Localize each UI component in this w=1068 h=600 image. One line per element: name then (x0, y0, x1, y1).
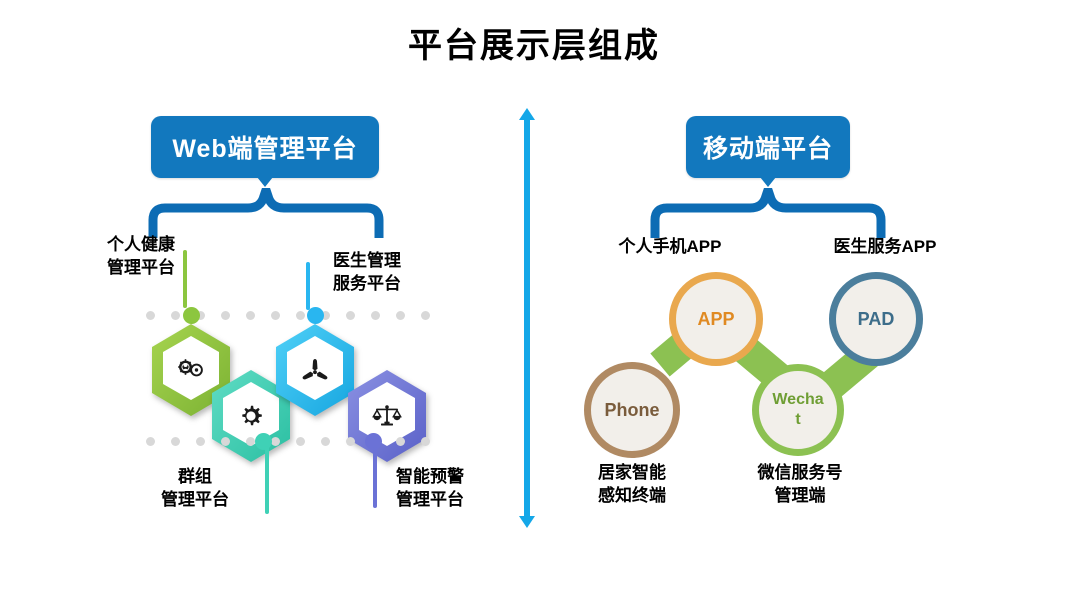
left-bracket (148, 188, 384, 238)
rail-dot (196, 437, 205, 446)
label-doctor-service-app: 医生服务APP (800, 236, 970, 259)
circle-phone-label: Phone (604, 400, 659, 421)
circle-phone[interactable]: Phone (584, 362, 680, 458)
rail-dot (421, 311, 430, 320)
circle-wechat[interactable]: Wecha t (752, 364, 844, 456)
web-platform-header-box[interactable]: Web端管理平台 (151, 116, 379, 178)
header-box-nub (257, 177, 273, 187)
rail-dot (271, 311, 280, 320)
stem-doctor-management (306, 262, 310, 310)
rail-dot (396, 437, 405, 446)
rail-dot (371, 311, 380, 320)
rail-dot (221, 311, 230, 320)
label-wechat-service-admin: 微信服务号 管理端 (725, 462, 875, 508)
label-personal-health: 个人健康 管理平台 (60, 234, 175, 280)
circle-pad[interactable]: PAD (829, 272, 923, 366)
vertical-double-arrow-divider (515, 108, 539, 528)
rail-dot-active (255, 433, 272, 450)
rail-dot (146, 311, 155, 320)
rail-dot (396, 311, 405, 320)
rail-dot (246, 311, 255, 320)
rail-dot (246, 437, 255, 446)
right-bracket (650, 188, 886, 238)
stem-smart-alert (373, 446, 377, 508)
rail-dot (146, 437, 155, 446)
header-box-nub (760, 177, 776, 187)
rail-dot (296, 311, 305, 320)
label-group-management: 群组 管理平台 (130, 466, 260, 512)
stem-group-management (265, 446, 269, 514)
page-title: 平台展示层组成 (0, 18, 1068, 67)
mobile-platform-header-label: 移动端平台 (703, 129, 833, 165)
circle-pad-label: PAD (858, 309, 895, 330)
rail-dot (321, 437, 330, 446)
stem-personal-health (183, 250, 187, 308)
label-home-sensing-terminal: 居家智能 感知终端 (562, 462, 702, 508)
circle-app-label: APP (697, 309, 734, 330)
rail-dot (296, 437, 305, 446)
circle-wechat-label: Wecha t (772, 390, 823, 430)
rail-dot (271, 437, 280, 446)
mobile-platform-header-box[interactable]: 移动端平台 (686, 116, 850, 178)
rail-dot (221, 437, 230, 446)
label-personal-phone-app: 个人手机APP (590, 236, 750, 259)
rail-dot (171, 437, 180, 446)
rail-dot (346, 311, 355, 320)
label-smart-alert: 智能预警 管理平台 (396, 466, 516, 512)
circle-app[interactable]: APP (669, 272, 763, 366)
rail-dot (346, 437, 355, 446)
rail-dot (171, 311, 180, 320)
rail-dot (421, 437, 430, 446)
slide-canvas: 平台展示层组成 Web端管理平台 个人健康 管理平台 医生管理 服务平台 (0, 0, 1068, 600)
divider-shaft (524, 116, 530, 520)
label-doctor-management: 医生管理 服务平台 (333, 250, 453, 296)
arrow-down-icon (519, 516, 535, 528)
bottom-dot-rail (140, 434, 440, 450)
web-platform-header-label: Web端管理平台 (172, 129, 357, 165)
